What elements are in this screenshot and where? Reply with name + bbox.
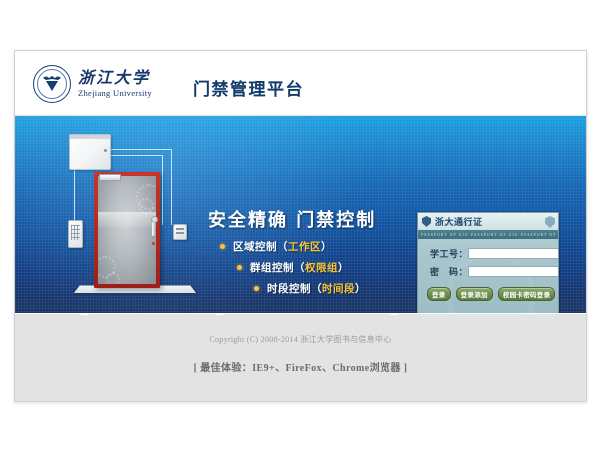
university-logo[interactable]: 浙江大学 Zhejiang University bbox=[33, 65, 152, 103]
feature-label-suffix: ） bbox=[355, 281, 366, 296]
cable-top bbox=[109, 149, 171, 150]
bullet-dot-icon bbox=[254, 286, 259, 291]
site-footer: Copyright (C) 2008-2014 浙江大学图书与信息中心 [ 最佳… bbox=[15, 313, 586, 402]
feature-bullet-list: 区域控制（工作区） 群组控制（权限组） 时段控制（时间段） bbox=[220, 239, 366, 302]
login-panel-subtitle: PASSPORT OF ZJU bbox=[435, 223, 480, 227]
browser-compatibility-note: [ 最佳体验：IE9+、FireFox、Chrome浏览器 ] bbox=[15, 359, 586, 374]
campus-card-login-button[interactable]: 校园卡密码登录 bbox=[498, 287, 556, 301]
login-button-row: 登录 登录添加 校园卡密码登录 bbox=[427, 287, 555, 301]
university-name-cn: 浙江大学 bbox=[78, 71, 152, 87]
footer-notch bbox=[81, 313, 89, 315]
feature-item-area: 区域控制（工作区） bbox=[220, 239, 366, 254]
login-add-button[interactable]: 登录添加 bbox=[456, 287, 493, 301]
hero-banner: 安全精确 门禁控制 区域控制（工作区） 群组控制（权限组） 时段控制（时间段） … bbox=[15, 116, 586, 313]
access-controller-box bbox=[69, 134, 111, 170]
feature-label-prefix: 群组控制（ bbox=[250, 260, 305, 275]
page-container: 浙江大学 Zhejiang University 门禁管理平台 bbox=[14, 50, 587, 402]
university-name-en: Zhejiang University bbox=[78, 89, 152, 98]
keypad-reader bbox=[68, 220, 83, 248]
password-label: 密 码： bbox=[430, 265, 468, 278]
footer-notch bbox=[215, 313, 223, 315]
access-control-illustration bbox=[47, 124, 207, 304]
door-panel bbox=[98, 176, 156, 284]
bullet-dot-icon bbox=[237, 265, 242, 270]
password-row: 密 码： bbox=[430, 265, 548, 278]
banner-headline: 安全精确 门禁控制 bbox=[208, 206, 376, 232]
feature-label-suffix: ） bbox=[321, 239, 332, 254]
shield-background-watermark bbox=[446, 251, 536, 313]
passport-band-text: PASSPORT OF ZJU PASSPORT OF ZJU PASSPORT… bbox=[418, 233, 558, 237]
card-reader bbox=[173, 224, 187, 240]
feature-item-timeslot: 时段控制（时间段） bbox=[254, 281, 366, 296]
feature-label-suffix: ） bbox=[338, 260, 349, 275]
username-label: 学工号： bbox=[430, 247, 468, 260]
login-panel: 浙大通行证 PASSPORT OF ZJU PASSPORT OF ZJU PA… bbox=[417, 212, 559, 313]
footer-notch bbox=[390, 313, 398, 315]
security-door bbox=[94, 172, 160, 288]
username-row: 学工号： bbox=[430, 247, 548, 260]
door-handle bbox=[152, 222, 155, 236]
feature-label-prefix: 时段控制（ bbox=[267, 281, 322, 296]
password-input[interactable] bbox=[468, 266, 559, 277]
login-button[interactable]: 登录 bbox=[427, 287, 451, 301]
door-status-led bbox=[152, 242, 155, 245]
door-closer bbox=[99, 174, 121, 181]
feature-label-highlight: 工作区 bbox=[288, 239, 321, 254]
cable-top-2 bbox=[109, 155, 162, 156]
site-header: 浙江大学 Zhejiang University 门禁管理平台 bbox=[15, 51, 586, 116]
bullet-dot-icon bbox=[220, 244, 225, 249]
login-panel-titlebar: 浙大通行证 PASSPORT OF ZJU bbox=[418, 213, 558, 231]
feature-item-group: 群组控制（权限组） bbox=[237, 260, 366, 275]
feature-label-prefix: 区域控制（ bbox=[233, 239, 288, 254]
cable-right bbox=[171, 149, 172, 225]
copyright-text: Copyright (C) 2008-2014 浙江大学图书与信息中心 bbox=[15, 334, 586, 345]
feature-label-highlight: 权限组 bbox=[305, 260, 338, 275]
zju-seal-icon bbox=[33, 65, 71, 103]
cable-left bbox=[74, 168, 75, 222]
zju-bird-glyph bbox=[41, 74, 63, 92]
cable-right-2 bbox=[162, 155, 163, 225]
shield-icon bbox=[422, 216, 431, 227]
username-input[interactable] bbox=[468, 248, 559, 259]
passport-text-band: PASSPORT OF ZJU PASSPORT OF ZJU PASSPORT… bbox=[418, 230, 558, 239]
feature-label-highlight: 时间段 bbox=[322, 281, 355, 296]
shield-watermark-icon bbox=[545, 216, 555, 228]
page-title: 门禁管理平台 bbox=[193, 75, 304, 100]
